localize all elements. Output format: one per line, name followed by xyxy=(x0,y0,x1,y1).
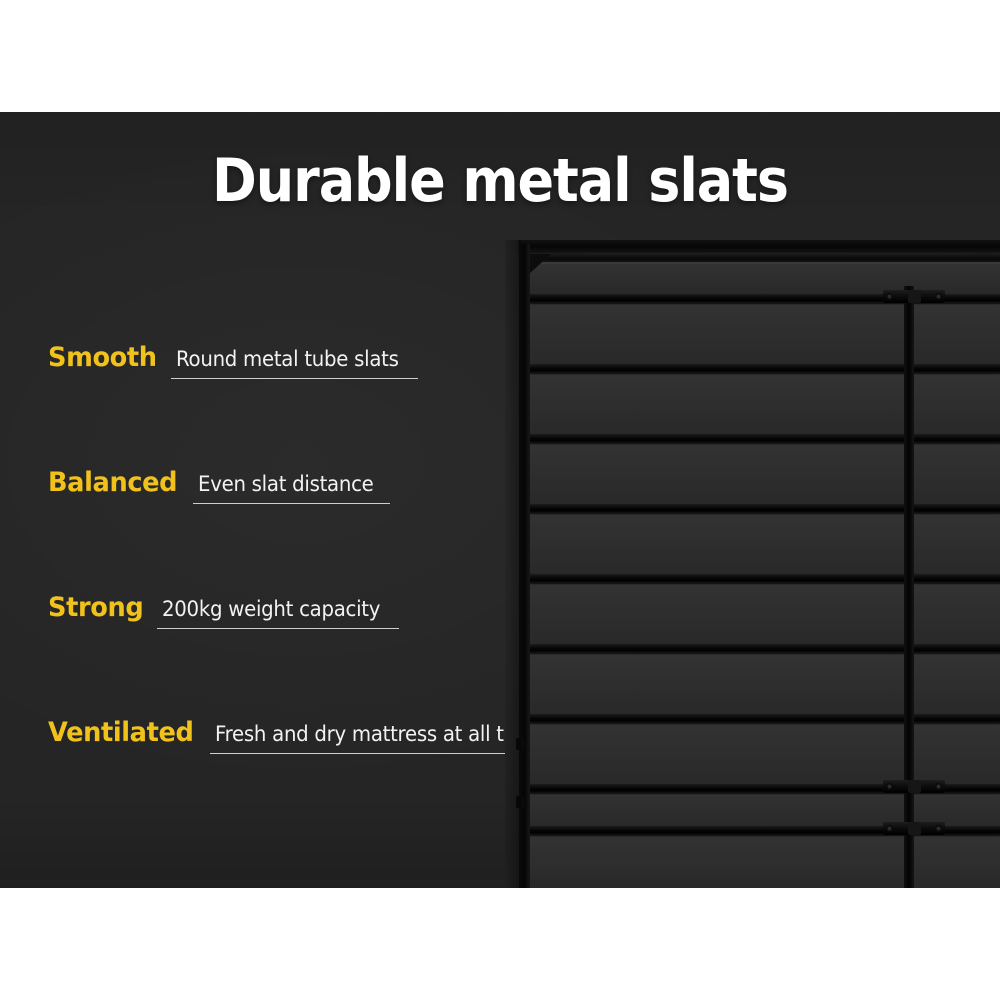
bracket-boss xyxy=(908,780,921,793)
bolt-icon xyxy=(935,783,942,790)
slat-bracket-connector xyxy=(883,822,945,835)
product-image-bed-frame xyxy=(505,240,1000,888)
frame-center-support-rail xyxy=(904,286,914,888)
page-title: Durable metal slats xyxy=(50,151,950,211)
bolt-icon xyxy=(935,825,942,832)
feature-row-balanced: Balanced Even slat distance xyxy=(48,467,568,592)
feature-row-ventilated: Ventilated Fresh and dry mattress at all… xyxy=(48,717,568,842)
slat-gap xyxy=(530,372,1000,434)
slat-gap xyxy=(530,302,1000,364)
feature-value-ventilated: Fresh and dry mattress at all times xyxy=(215,722,550,746)
feature-value-balanced: Even slat distance xyxy=(198,472,374,496)
feature-key-strong: Strong xyxy=(48,592,143,623)
bolt-icon xyxy=(886,293,893,300)
hero-panel: Durable metal slats Smooth Round metal t… xyxy=(0,112,1000,888)
feature-value-strong: 200kg weight capacity xyxy=(162,597,380,621)
feature-value-smooth: Round metal tube slats xyxy=(176,347,399,371)
bracket-boss xyxy=(908,290,921,303)
bolt-icon xyxy=(886,783,893,790)
slat-gap xyxy=(530,834,1000,888)
bracket-boss xyxy=(908,822,921,835)
metal-slat xyxy=(530,574,1000,583)
slat-gap xyxy=(530,442,1000,504)
metal-slat xyxy=(530,364,1000,373)
feature-value-underline-balanced: Even slat distance xyxy=(193,472,390,504)
feature-value-underline-smooth: Round metal tube slats xyxy=(171,347,418,379)
metal-slat xyxy=(530,434,1000,443)
product-image-edge-shadow xyxy=(505,240,521,888)
bolt-icon xyxy=(935,293,942,300)
bolt-icon xyxy=(886,825,893,832)
feature-key-balanced: Balanced xyxy=(48,467,177,498)
metal-slat xyxy=(530,644,1000,653)
feature-value-underline-strong: 200kg weight capacity xyxy=(157,597,399,629)
slat-gap xyxy=(530,722,1000,784)
frame-top-rail xyxy=(519,240,1000,252)
slat-bracket-connector xyxy=(883,290,945,303)
feature-list: Smooth Round metal tube slats Balanced E… xyxy=(48,342,568,842)
metal-slat xyxy=(530,504,1000,513)
metal-slat xyxy=(530,714,1000,723)
slat-bracket-connector xyxy=(883,780,945,793)
feature-row-strong: Strong 200kg weight capacity xyxy=(48,592,568,717)
frame-corner-gusset xyxy=(529,254,551,274)
slat-gap xyxy=(530,512,1000,574)
feature-row-smooth: Smooth Round metal tube slats xyxy=(48,342,568,467)
feature-key-smooth: Smooth xyxy=(48,342,157,373)
promo-banner: Durable metal slats Smooth Round metal t… xyxy=(0,0,1000,1000)
slat-gap xyxy=(530,792,1000,826)
feature-key-ventilated: Ventilated xyxy=(48,717,193,748)
slat-gap xyxy=(530,582,1000,644)
slat-gap xyxy=(530,652,1000,714)
frame-top-inner-rail xyxy=(527,254,1000,262)
